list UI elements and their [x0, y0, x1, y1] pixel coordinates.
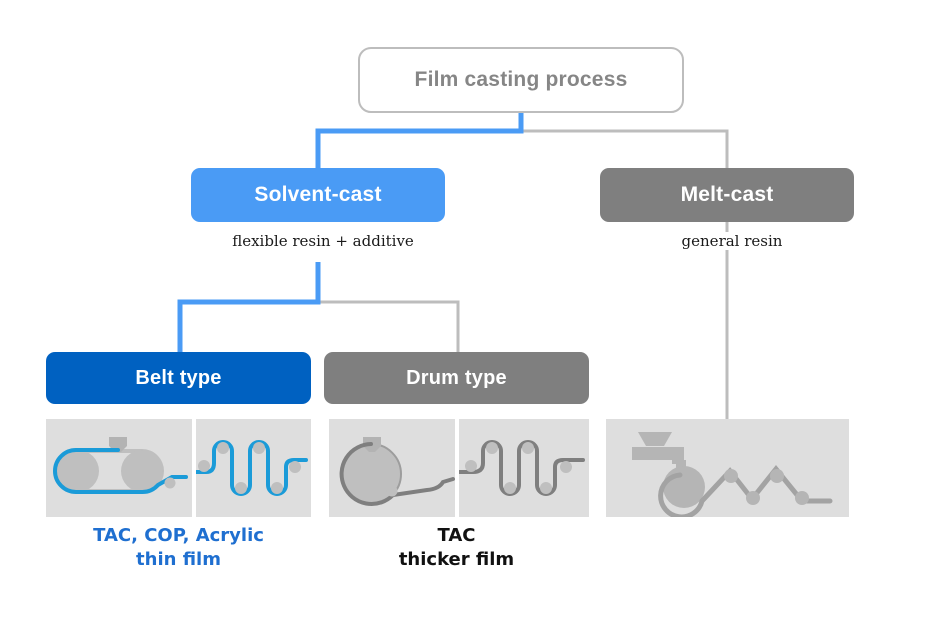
sublabel-melt-cast: general resin [600, 232, 864, 250]
connector-solvent-to-belt [180, 262, 318, 352]
connector-root-to-solvent [318, 113, 521, 168]
illustration-drum-drying-serpentine [459, 419, 589, 517]
node-belt-type[interactable]: Belt type [46, 352, 311, 404]
sublabel-solvent-cast: flexible resin + additive [191, 232, 455, 250]
node-drum-type[interactable]: Drum type [324, 352, 589, 404]
diagram-canvas: Film casting process Solvent-cast flexib… [0, 0, 952, 626]
connector-solvent-to-drum [318, 302, 458, 352]
illustration-belt-drying-serpentine [196, 419, 311, 517]
illustration-melt-extruder-line [606, 419, 849, 517]
caption-drum-type: TAC thicker film [324, 524, 589, 573]
node-solvent-cast[interactable]: Solvent-cast [191, 168, 445, 222]
node-film-casting-process[interactable]: Film casting process [358, 47, 684, 113]
caption-belt-type: TAC, COP, Acrylic thin film [46, 524, 311, 573]
node-melt-cast[interactable]: Melt-cast [600, 168, 854, 222]
illustration-belt-caster [46, 419, 192, 517]
illustration-drum-caster [329, 419, 455, 517]
